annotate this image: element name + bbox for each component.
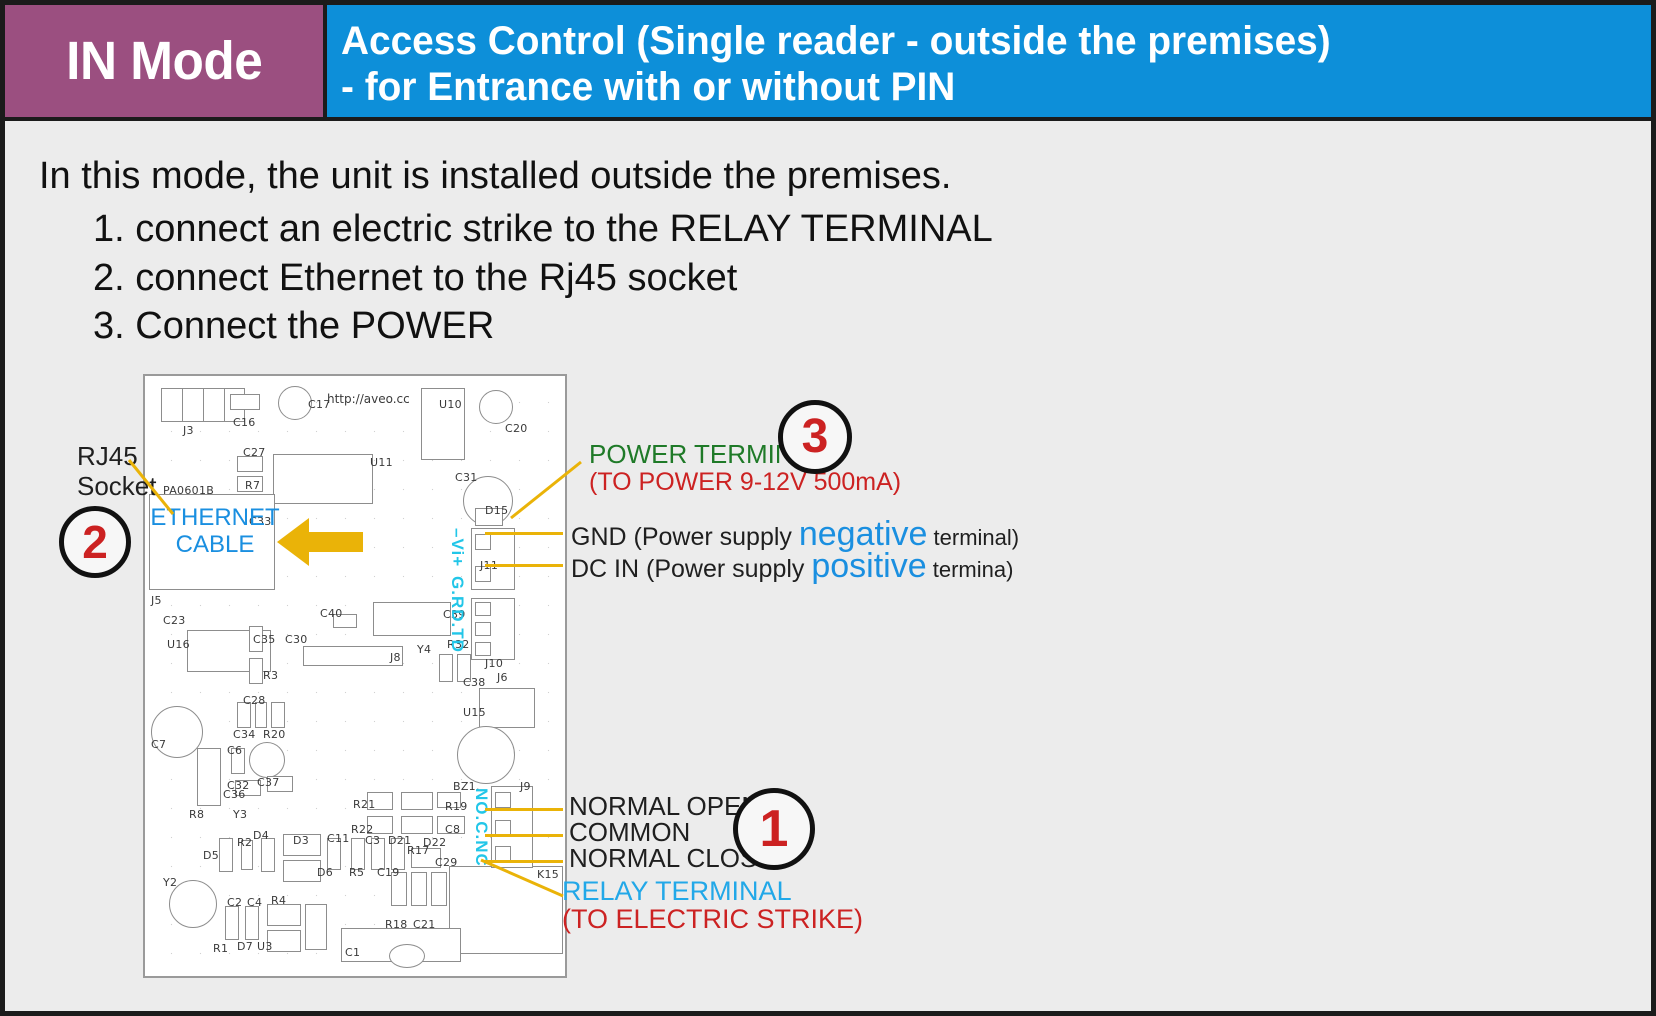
silkscreen-label: R17 [407, 844, 430, 857]
silkscreen-label: Y4 [417, 643, 431, 656]
step-badge-2-number: 2 [82, 519, 108, 565]
silkscreen-label: C34 [233, 728, 256, 741]
pcb-pad [401, 816, 433, 834]
pcb-pad-round [389, 944, 425, 968]
pcb-pad [373, 602, 451, 636]
silkscreen-label: C3 [365, 834, 380, 847]
silkscreen-label: D4 [253, 829, 269, 842]
pcb-trace [182, 388, 183, 422]
pcb-pad [245, 906, 259, 940]
mode-badge: IN Mode [5, 5, 327, 121]
relay-terminal-leader-line [479, 858, 569, 900]
pcb-pad [261, 838, 275, 872]
silkscreen-label: C27 [243, 446, 266, 459]
pcb-pad [273, 454, 373, 504]
step-badge-1-number: 1 [760, 803, 789, 855]
pcb-pad [479, 688, 535, 728]
step-item-2: 2. connect Ethernet to the Rj45 socket [93, 254, 993, 303]
silkscreen-label: U15 [463, 706, 486, 719]
silkscreen-label: C6 [227, 744, 242, 757]
pcb-pad [431, 872, 447, 906]
dcin-label-emphasis: positive [811, 547, 926, 585]
step-badge-1: 1 [733, 788, 815, 870]
pcb-pad-round [249, 742, 285, 778]
relay-pin-group-label: NO.C.NC [471, 788, 491, 867]
power-terminal-sublabel: (TO POWER 9-12V 500mA) [589, 468, 901, 497]
silkscreen-label: Y2 [163, 876, 177, 889]
board-url-text: http://aveo.cc [327, 392, 410, 406]
silkscreen-label: R20 [263, 728, 286, 741]
relay-pin-no [495, 792, 511, 808]
ethernet-cable-line-2: CABLE [140, 532, 290, 559]
header-title-line-1: Access Control (Single reader - outside … [341, 18, 1612, 64]
silkscreen-label: U10 [439, 398, 462, 411]
silkscreen-label: U11 [370, 456, 393, 469]
silkscreen-label: C40 [320, 607, 343, 620]
header-title-line-2: - for Entrance with or without PIN [341, 64, 1612, 110]
silkscreen-label: D6 [317, 866, 333, 879]
silkscreen-label: J5 [151, 594, 162, 607]
step-badge-3-number: 3 [802, 413, 829, 461]
silkscreen-label: C19 [377, 866, 400, 879]
common-leader-line [485, 834, 563, 837]
dcin-leader-line [485, 564, 563, 567]
pcb-pad [439, 654, 453, 682]
power-pin-group-label: –Vi+ [447, 528, 467, 567]
silkscreen-label: Y3 [233, 808, 247, 821]
network-pin [475, 622, 491, 636]
silkscreen-label: J3 [183, 424, 194, 437]
pcb-pad [219, 838, 233, 872]
relay-terminal-sublabel: (TO ELECTRIC STRIKE) [562, 904, 863, 935]
silkscreen-label: J10 [485, 657, 503, 670]
pcb-pad [249, 658, 263, 684]
silkscreen-label: R7 [245, 479, 260, 492]
network-pin [475, 642, 491, 656]
silkscreen-label: C8 [445, 823, 460, 836]
silkscreen-label: C36 [223, 788, 246, 801]
gnd-leader-line [485, 532, 563, 535]
pcb-pad [401, 792, 433, 810]
silkscreen-label: C28 [243, 694, 266, 707]
pcb-pad-round [479, 390, 513, 424]
header-bar: IN Mode Access Control (Single reader - … [5, 5, 1651, 121]
header-title-block: Access Control (Single reader - outside … [327, 5, 1651, 121]
silkscreen-label: R4 [271, 894, 286, 907]
pcb-pad [197, 748, 221, 806]
dcin-label-prefix: DC IN (Power supply [571, 555, 811, 583]
silkscreen-label: C20 [505, 422, 528, 435]
pcb-pad-round [278, 386, 312, 420]
silkscreen-label: C2 [227, 896, 242, 909]
silkscreen-label: C4 [247, 896, 262, 909]
silkscreen-label: C30 [285, 633, 308, 646]
silkscreen-label: C21 [413, 918, 436, 931]
normal-open-leader-line [485, 808, 563, 811]
silkscreen-label: C35 [253, 633, 276, 646]
dcin-label: DC IN (Power supply positive termina) [571, 547, 1013, 586]
steps-list: 1. connect an electric strike to the REL… [93, 205, 993, 351]
dcin-label-suffix: termina) [927, 557, 1014, 582]
silkscreen-label: C1 [345, 946, 360, 959]
rj45-leader-line [125, 458, 185, 518]
pcb-diagram-area: J3C16C17U10C20C27U11C31R7PA0601BC33D15J1… [5, 360, 1651, 1010]
network-pin-group-label: G.RD.TD [447, 576, 467, 653]
silkscreen-label: R5 [349, 866, 364, 879]
silkscreen-label: C16 [233, 416, 256, 429]
diagram-page: IN Mode Access Control (Single reader - … [0, 0, 1656, 1016]
intro-text: In this mode, the unit is installed outs… [39, 155, 951, 198]
silkscreen-label: C29 [435, 856, 458, 869]
step-item-1: 1. connect an electric strike to the REL… [93, 205, 993, 254]
pcb-pad [271, 702, 285, 728]
silkscreen-label: J6 [497, 671, 508, 684]
pcb-trace [203, 388, 204, 422]
network-pin [475, 602, 491, 616]
pcb-pad [230, 394, 260, 410]
silkscreen-label: C11 [327, 832, 350, 845]
power-pin [475, 534, 491, 550]
pcb-trace [224, 388, 225, 422]
pcb-pad [305, 904, 327, 950]
silkscreen-label: C31 [455, 471, 478, 484]
silkscreen-label: R2 [237, 836, 252, 849]
silkscreen-label: R21 [353, 798, 376, 811]
step-badge-3: 3 [778, 400, 852, 474]
silkscreen-label: U16 [167, 638, 190, 651]
silkscreen-label: C37 [257, 776, 280, 789]
silkscreen-label: C23 [163, 614, 186, 627]
buzzer-bz1 [457, 726, 515, 784]
silkscreen-label: D7 [237, 940, 253, 953]
silkscreen-label: R8 [189, 808, 204, 821]
silkscreen-label: J9 [520, 780, 531, 793]
silkscreen-label: D3 [293, 834, 309, 847]
pcb-pad [267, 904, 301, 926]
step-badge-2: 2 [59, 506, 131, 578]
pcb-pad [225, 906, 239, 940]
relay-terminal-label: RELAY TERMINAL [562, 876, 792, 907]
silkscreen-label: C7 [151, 738, 166, 751]
silkscreen-label: R18 [385, 918, 408, 931]
pcb-pad [411, 872, 427, 906]
silkscreen-label: U3 [257, 940, 273, 953]
silkscreen-label: C38 [463, 676, 486, 689]
silkscreen-label: R3 [263, 669, 278, 682]
pcb-pad [303, 646, 403, 666]
silkscreen-label: R1 [213, 942, 228, 955]
mode-badge-label: IN Mode [66, 30, 262, 92]
silkscreen-label: R19 [445, 800, 468, 813]
silkscreen-label: J8 [390, 651, 401, 664]
ethernet-arrow-icon [275, 512, 365, 572]
power-terminal-leader-line [505, 460, 585, 522]
step-item-3: 3. Connect the POWER [93, 302, 993, 351]
silkscreen-label: D5 [203, 849, 219, 862]
pcb-pad [283, 860, 321, 882]
